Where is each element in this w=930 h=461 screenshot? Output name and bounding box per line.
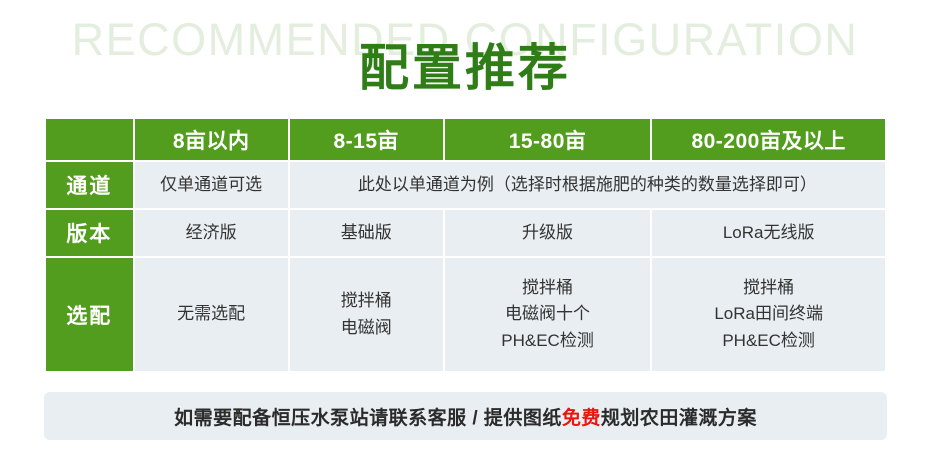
optional-col3-line-1: 搅拌桶 [445,275,650,301]
optional-col4-line-3: PH&EC检测 [652,328,885,354]
header-cell-blank [46,119,133,160]
header-cell-15-80mu: 15-80亩 [445,119,650,160]
optional-col4-line-2: LoRa田间终端 [652,301,885,327]
table-row-channel: 通道 仅单通道可选 此处以单通道为例（选择时根据施肥的种类的数量选择即可） [46,162,885,208]
cell-channel-col1: 仅单通道可选 [135,162,288,208]
cell-channel-merged-note: 此处以单通道为例（选择时根据施肥的种类的数量选择即可） [290,162,885,208]
optional-col4-line-1: 搅拌桶 [652,275,885,301]
footer-note-text: 如需要配备恒压水泵站请联系客服 / 提供图纸免费规划农田灌溉方案 [174,403,757,430]
row-label-channel: 通道 [46,162,133,208]
cell-version-col4: LoRa无线版 [652,210,885,256]
table-row-version: 版本 经济版 基础版 升级版 LoRa无线版 [46,210,885,256]
cell-optional-col2: 搅拌桶 电磁阀 [290,258,443,371]
cell-optional-col3: 搅拌桶 电磁阀十个 PH&EC检测 [445,258,650,371]
footer-text-part1: 如需要配备恒压水泵站请联系客服 / 提供图纸 [174,408,562,429]
cell-optional-col1: 无需选配 [135,258,288,371]
optional-col2-line-1: 搅拌桶 [290,288,443,314]
optional-col2-line-2: 电磁阀 [290,315,443,341]
header-cell-8mu-within: 8亩以内 [135,119,288,160]
cell-version-col2: 基础版 [290,210,443,256]
cell-optional-col4: 搅拌桶 LoRa田间终端 PH&EC检测 [652,258,885,371]
cell-version-col3: 升级版 [445,210,650,256]
row-label-version: 版本 [46,210,133,256]
optional-col3-line-2: 电磁阀十个 [445,301,650,327]
table-row-optional: 选配 无需选配 搅拌桶 电磁阀 搅拌桶 电磁阀十个 PH&EC检测 搅拌桶 Lo… [46,258,885,371]
table-header-row: 8亩以内 8-15亩 15-80亩 80-200亩及以上 [46,119,885,160]
header-cell-80-200mu: 80-200亩及以上 [652,119,885,160]
footer-text-highlight: 免费 [562,408,601,429]
cell-version-col1: 经济版 [135,210,288,256]
footer-text-part2: 规划农田灌溉方案 [601,408,757,429]
page-header: RECOMMENDED CONFIGURATION 配置推荐 [0,0,930,112]
optional-col3-line-3: PH&EC检测 [445,328,650,354]
configuration-table: 8亩以内 8-15亩 15-80亩 80-200亩及以上 通道 仅单通道可选 此… [44,117,887,373]
row-label-optional: 选配 [46,258,133,371]
page-title: 配置推荐 [0,28,930,100]
header-cell-8-15mu: 8-15亩 [290,119,443,160]
footer-note-bar: 如需要配备恒压水泵站请联系客服 / 提供图纸免费规划农田灌溉方案 [44,392,887,440]
